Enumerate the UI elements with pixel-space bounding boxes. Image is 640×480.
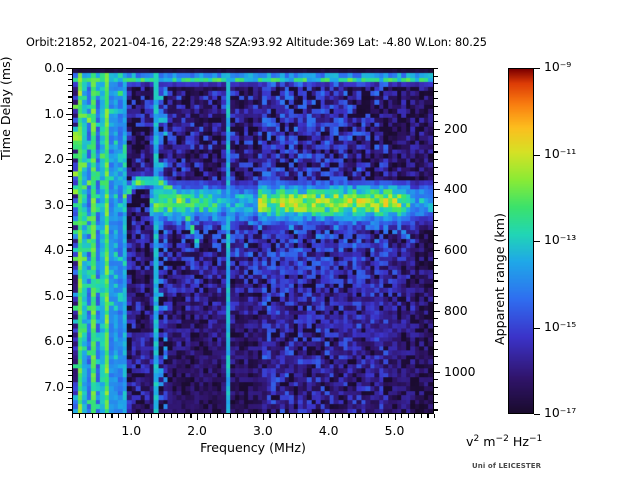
y-minor-tick bbox=[68, 381, 71, 382]
y-major-tick bbox=[66, 387, 72, 388]
y2-minor-tick bbox=[434, 174, 437, 175]
x-minor-tick bbox=[342, 414, 343, 417]
y-minor-tick bbox=[68, 353, 71, 354]
y2-minor-tick bbox=[434, 409, 437, 410]
ionogram-heatmap bbox=[73, 69, 433, 413]
institution-watermark: Uni of LEICESTER bbox=[472, 462, 541, 470]
y-tick-label: 0.0 bbox=[24, 60, 64, 75]
x-minor-tick bbox=[243, 414, 244, 417]
y-major-tick bbox=[66, 114, 72, 115]
y-minor-tick bbox=[68, 131, 71, 132]
y-tick-label: 2.0 bbox=[24, 151, 64, 166]
y-minor-tick bbox=[68, 301, 71, 302]
x-minor-tick bbox=[276, 414, 277, 417]
x-minor-tick bbox=[125, 414, 126, 417]
y-tick-label: 1.0 bbox=[24, 106, 64, 121]
colorbar-tick bbox=[534, 414, 540, 415]
x-minor-tick bbox=[184, 414, 185, 417]
y2-minor-tick bbox=[434, 364, 437, 365]
y2-minor-tick bbox=[434, 402, 437, 403]
y2-tick-label: 1000 bbox=[444, 364, 494, 379]
colorbar-units-label: v2 m−2 Hz−1 bbox=[466, 434, 542, 449]
x-minor-tick bbox=[158, 414, 159, 417]
y2-minor-tick bbox=[434, 91, 437, 92]
y-minor-tick bbox=[68, 375, 71, 376]
x-minor-tick bbox=[289, 414, 290, 417]
y2-minor-tick bbox=[434, 159, 437, 160]
y2-minor-tick bbox=[434, 136, 437, 137]
x-minor-tick bbox=[368, 414, 369, 417]
x-tick-label: 4.0 bbox=[309, 423, 349, 438]
y-minor-tick bbox=[68, 199, 71, 200]
y-tick-label: 7.0 bbox=[24, 379, 64, 394]
y2-minor-tick bbox=[434, 68, 437, 69]
x-minor-tick bbox=[401, 414, 402, 417]
x-minor-tick bbox=[118, 414, 119, 417]
y-minor-tick bbox=[68, 398, 71, 399]
y2-minor-tick bbox=[434, 167, 437, 168]
y-minor-tick bbox=[68, 148, 71, 149]
y2-minor-tick bbox=[434, 341, 437, 342]
y2-minor-tick bbox=[434, 394, 437, 395]
y2-minor-tick bbox=[434, 296, 437, 297]
y-minor-tick bbox=[68, 409, 71, 410]
y-minor-tick bbox=[68, 96, 71, 97]
y-minor-tick bbox=[68, 74, 71, 75]
x-minor-tick bbox=[210, 414, 211, 417]
y-major-tick bbox=[66, 159, 72, 160]
x-minor-tick bbox=[151, 414, 152, 417]
colorbar-tick-label: 10⁻¹¹ bbox=[544, 146, 576, 161]
y2-major-tick bbox=[434, 250, 440, 251]
y2-tick-label: 400 bbox=[444, 181, 494, 196]
x-minor-tick bbox=[171, 414, 172, 417]
x-major-tick bbox=[197, 414, 198, 420]
x-axis-label: Frequency (MHz) bbox=[72, 440, 434, 455]
x-minor-tick bbox=[388, 414, 389, 417]
y2-minor-tick bbox=[434, 379, 437, 380]
x-minor-tick bbox=[381, 414, 382, 417]
x-minor-tick bbox=[79, 414, 80, 417]
y2-minor-tick bbox=[434, 144, 437, 145]
y-tick-label: 3.0 bbox=[24, 197, 64, 212]
y2-minor-tick bbox=[434, 76, 437, 77]
x-minor-tick bbox=[250, 414, 251, 417]
y-minor-tick bbox=[68, 318, 71, 319]
colorbar-tick bbox=[534, 328, 540, 329]
x-minor-tick bbox=[256, 414, 257, 417]
y-minor-tick bbox=[68, 85, 71, 86]
colorbar-tick-label: 10⁻¹⁵ bbox=[544, 319, 576, 334]
y2-minor-tick bbox=[434, 197, 437, 198]
x-minor-tick bbox=[230, 414, 231, 417]
x-minor-tick bbox=[164, 414, 165, 417]
y-minor-tick bbox=[68, 313, 71, 314]
y2-major-tick bbox=[434, 129, 440, 130]
x-minor-tick bbox=[177, 414, 178, 417]
y-minor-tick bbox=[68, 170, 71, 171]
y-minor-tick bbox=[68, 330, 71, 331]
y-minor-tick bbox=[68, 119, 71, 120]
x-tick-label: 5.0 bbox=[375, 423, 415, 438]
y2-minor-tick bbox=[434, 98, 437, 99]
colorbar-tick-label: 10⁻¹³ bbox=[544, 232, 576, 247]
y2-minor-tick bbox=[434, 265, 437, 266]
x-major-tick bbox=[131, 414, 132, 420]
y-major-tick bbox=[66, 205, 72, 206]
y2-minor-tick bbox=[434, 387, 437, 388]
x-minor-tick bbox=[85, 414, 86, 417]
y2-minor-tick bbox=[434, 114, 437, 115]
y-minor-tick bbox=[68, 233, 71, 234]
x-minor-tick bbox=[190, 414, 191, 417]
y2-tick-label: 200 bbox=[444, 121, 494, 136]
y-minor-tick bbox=[68, 347, 71, 348]
ionogram-axes[interactable] bbox=[72, 68, 434, 414]
x-minor-tick bbox=[302, 414, 303, 417]
y-minor-tick bbox=[68, 182, 71, 183]
y2-minor-tick bbox=[434, 258, 437, 259]
y-minor-tick bbox=[68, 307, 71, 308]
y-minor-tick bbox=[68, 324, 71, 325]
y-minor-tick bbox=[68, 91, 71, 92]
y-minor-tick bbox=[68, 244, 71, 245]
y2-minor-tick bbox=[434, 303, 437, 304]
x-minor-tick bbox=[362, 414, 363, 417]
y2-minor-tick bbox=[434, 273, 437, 274]
y-axis-left-label: Time Delay (ms) bbox=[0, 0, 13, 160]
colorbar-gradient bbox=[509, 69, 533, 413]
x-minor-tick bbox=[408, 414, 409, 417]
colorbar-tick-label: 10⁻⁹ bbox=[544, 59, 571, 74]
y-minor-tick bbox=[68, 364, 71, 365]
colorbar[interactable] bbox=[508, 68, 534, 414]
y-minor-tick bbox=[68, 358, 71, 359]
y-minor-tick bbox=[68, 142, 71, 143]
x-minor-tick bbox=[204, 414, 205, 417]
y2-minor-tick bbox=[434, 151, 437, 152]
y2-minor-tick bbox=[434, 235, 437, 236]
y2-major-tick bbox=[434, 311, 440, 312]
x-minor-tick bbox=[223, 414, 224, 417]
y-minor-tick bbox=[68, 267, 71, 268]
y-tick-label: 4.0 bbox=[24, 242, 64, 257]
y2-minor-tick bbox=[434, 227, 437, 228]
y-minor-tick bbox=[68, 290, 71, 291]
y2-minor-tick bbox=[434, 212, 437, 213]
colorbar-tick bbox=[534, 68, 540, 69]
y2-minor-tick bbox=[434, 83, 437, 84]
y-minor-tick bbox=[68, 335, 71, 336]
x-minor-tick bbox=[375, 414, 376, 417]
y2-minor-tick bbox=[434, 356, 437, 357]
x-major-tick bbox=[263, 414, 264, 420]
y-minor-tick bbox=[68, 279, 71, 280]
y-minor-tick bbox=[68, 165, 71, 166]
x-minor-tick bbox=[309, 414, 310, 417]
y-minor-tick bbox=[68, 227, 71, 228]
y-minor-tick bbox=[68, 392, 71, 393]
x-minor-tick bbox=[335, 414, 336, 417]
x-minor-tick bbox=[322, 414, 323, 417]
y2-minor-tick bbox=[434, 349, 437, 350]
y-minor-tick bbox=[68, 370, 71, 371]
y-minor-tick bbox=[68, 216, 71, 217]
x-minor-tick bbox=[269, 414, 270, 417]
x-major-tick bbox=[329, 414, 330, 420]
y-minor-tick bbox=[68, 222, 71, 223]
y2-minor-tick bbox=[434, 280, 437, 281]
x-minor-tick bbox=[427, 414, 428, 417]
y-minor-tick bbox=[68, 210, 71, 211]
x-minor-tick bbox=[92, 414, 93, 417]
y2-minor-tick bbox=[434, 220, 437, 221]
y-minor-tick bbox=[68, 176, 71, 177]
y2-major-tick bbox=[434, 372, 440, 373]
y2-minor-tick bbox=[434, 326, 437, 327]
figure-title: Orbit:21852, 2021-04-16, 22:29:48 SZA:93… bbox=[26, 36, 487, 49]
y-minor-tick bbox=[68, 404, 71, 405]
y2-minor-tick bbox=[434, 106, 437, 107]
x-minor-tick bbox=[414, 414, 415, 417]
y-minor-tick bbox=[68, 256, 71, 257]
y-axis-right-label: Apparent range (km) bbox=[492, 125, 507, 345]
figure-canvas: Orbit:21852, 2021-04-16, 22:29:48 SZA:93… bbox=[0, 0, 640, 480]
y2-minor-tick bbox=[434, 121, 437, 122]
x-minor-tick bbox=[296, 414, 297, 417]
x-minor-tick bbox=[316, 414, 317, 417]
x-minor-tick bbox=[105, 414, 106, 417]
y-minor-tick bbox=[68, 153, 71, 154]
y-major-tick bbox=[66, 68, 72, 69]
y2-minor-tick bbox=[434, 318, 437, 319]
x-minor-tick bbox=[217, 414, 218, 417]
y2-tick-label: 800 bbox=[444, 303, 494, 318]
colorbar-tick-label: 10⁻¹⁷ bbox=[544, 405, 576, 420]
y-minor-tick bbox=[68, 193, 71, 194]
y-major-tick bbox=[66, 250, 72, 251]
colorbar-tick bbox=[534, 155, 540, 156]
y2-tick-label: 600 bbox=[444, 242, 494, 257]
x-tick-label: 2.0 bbox=[177, 423, 217, 438]
y-minor-tick bbox=[68, 239, 71, 240]
x-minor-tick bbox=[434, 414, 435, 417]
y-tick-label: 6.0 bbox=[24, 333, 64, 348]
y-minor-tick bbox=[68, 108, 71, 109]
y2-minor-tick bbox=[434, 182, 437, 183]
y-major-tick bbox=[66, 341, 72, 342]
y2-minor-tick bbox=[434, 288, 437, 289]
y-minor-tick bbox=[68, 261, 71, 262]
x-minor-tick bbox=[98, 414, 99, 417]
y-minor-tick bbox=[68, 188, 71, 189]
x-minor-tick bbox=[283, 414, 284, 417]
x-tick-label: 3.0 bbox=[243, 423, 283, 438]
y-tick-label: 5.0 bbox=[24, 288, 64, 303]
colorbar-tick bbox=[534, 241, 540, 242]
y-minor-tick bbox=[68, 284, 71, 285]
x-minor-tick bbox=[237, 414, 238, 417]
y-minor-tick bbox=[68, 136, 71, 137]
x-minor-tick bbox=[72, 414, 73, 417]
y-major-tick bbox=[66, 296, 72, 297]
y2-major-tick bbox=[434, 189, 440, 190]
y-minor-tick bbox=[68, 102, 71, 103]
x-minor-tick bbox=[111, 414, 112, 417]
y2-minor-tick bbox=[434, 243, 437, 244]
x-minor-tick bbox=[355, 414, 356, 417]
y-minor-tick bbox=[68, 125, 71, 126]
y2-minor-tick bbox=[434, 334, 437, 335]
x-minor-tick bbox=[348, 414, 349, 417]
x-major-tick bbox=[395, 414, 396, 420]
x-minor-tick bbox=[421, 414, 422, 417]
y2-minor-tick bbox=[434, 205, 437, 206]
x-minor-tick bbox=[138, 414, 139, 417]
x-minor-tick bbox=[144, 414, 145, 417]
y-minor-tick bbox=[68, 273, 71, 274]
x-tick-label: 1.0 bbox=[111, 423, 151, 438]
y-minor-tick bbox=[68, 79, 71, 80]
